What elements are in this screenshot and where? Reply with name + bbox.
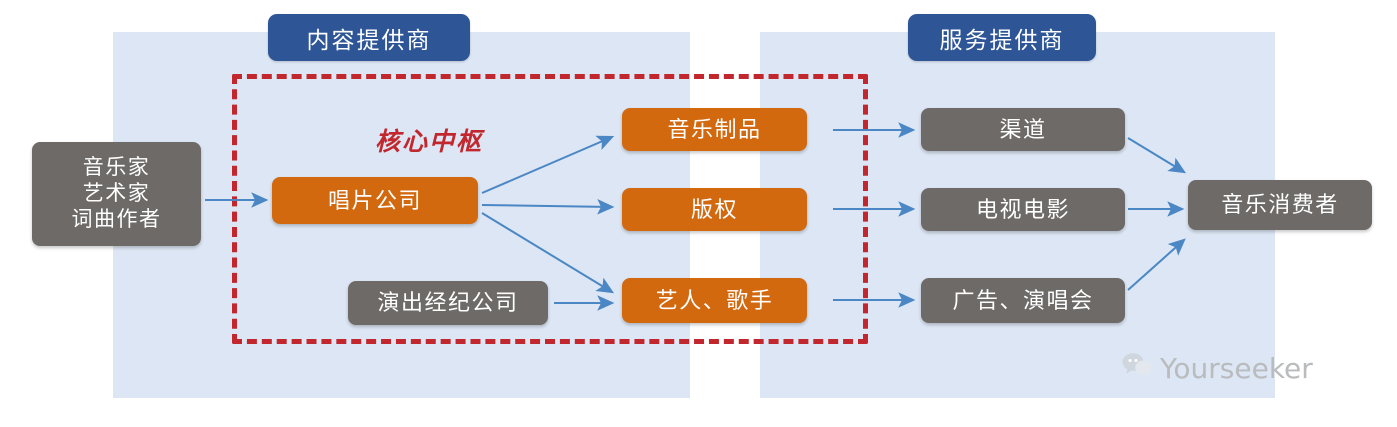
node-performance-agency-label: 演出经纪公司 (377, 289, 518, 317)
watermark-label: Yourseeker (1160, 352, 1313, 385)
node-artists-singers-label: 艺人、歌手 (656, 287, 774, 315)
node-music-consumers-label: 音乐消费者 (1221, 191, 1339, 219)
node-music-products-label: 音乐制品 (667, 116, 761, 144)
group-chip-service-provider[interactable]: 服务提供商 (908, 14, 1096, 61)
node-record-company[interactable]: 唱片公司 (272, 177, 478, 224)
node-copyright[interactable]: 版权 (622, 188, 807, 231)
node-ads-concerts[interactable]: 广告、演唱会 (921, 278, 1125, 323)
group-chip-content-provider[interactable]: 内容提供商 (268, 14, 470, 61)
node-music-consumers[interactable]: 音乐消费者 (1188, 180, 1372, 230)
node-channel-label: 渠道 (999, 116, 1046, 144)
group-chip-service-provider-label: 服务提供商 (940, 21, 1065, 55)
watermark: Yourseeker (1122, 352, 1313, 385)
node-tv-film-label: 电视电影 (976, 196, 1070, 224)
node-ads-concerts-label: 广告、演唱会 (952, 287, 1093, 315)
node-record-company-label: 唱片公司 (328, 187, 422, 215)
wechat-icon (1122, 352, 1152, 385)
node-performance-agency[interactable]: 演出经纪公司 (348, 281, 548, 325)
node-creators-line-1: 音乐家 (83, 155, 151, 181)
node-tv-film[interactable]: 电视电影 (921, 188, 1125, 231)
diagram-canvas: 内容提供商 服务提供商 音乐家 艺术家 词曲作者 核心中枢 唱片公司 演出经纪公… (0, 0, 1397, 427)
node-copyright-label: 版权 (691, 196, 738, 224)
node-channel[interactable]: 渠道 (921, 108, 1125, 151)
core-hub-annotation: 核心中枢 (334, 122, 524, 158)
node-music-products[interactable]: 音乐制品 (622, 108, 807, 151)
node-creators-line-2: 艺术家 (83, 181, 151, 207)
node-artists-singers[interactable]: 艺人、歌手 (622, 278, 807, 323)
node-creators[interactable]: 音乐家 艺术家 词曲作者 (32, 142, 201, 246)
node-creators-line-3: 词曲作者 (72, 207, 162, 233)
group-chip-content-provider-label: 内容提供商 (307, 21, 432, 55)
